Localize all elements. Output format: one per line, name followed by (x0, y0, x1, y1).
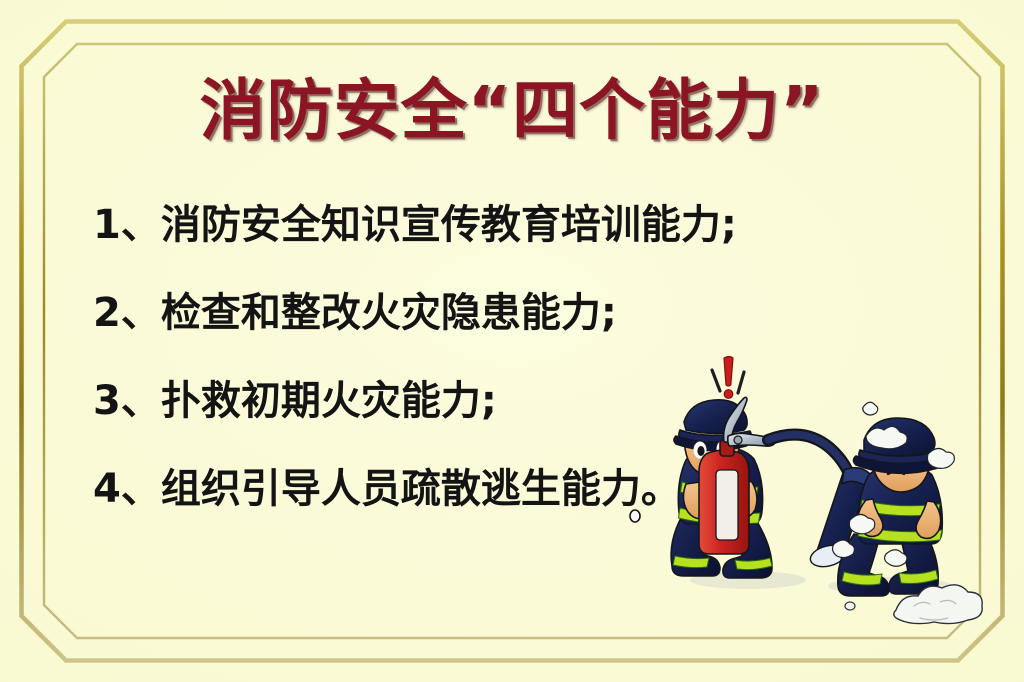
poster-canvas: 消防安全“四个能力” 1、消防安全知识宣传教育培训能力; 2、检查和整改火灾隐患… (0, 0, 1024, 682)
list-item: 2、检查和整改火灾隐患能力; (93, 293, 813, 333)
firefighters-illustration (628, 348, 1000, 638)
page-title: 消防安全“四个能力” (0, 78, 1024, 144)
list-item: 1、消防安全知识宣传教育培训能力; (93, 205, 813, 245)
